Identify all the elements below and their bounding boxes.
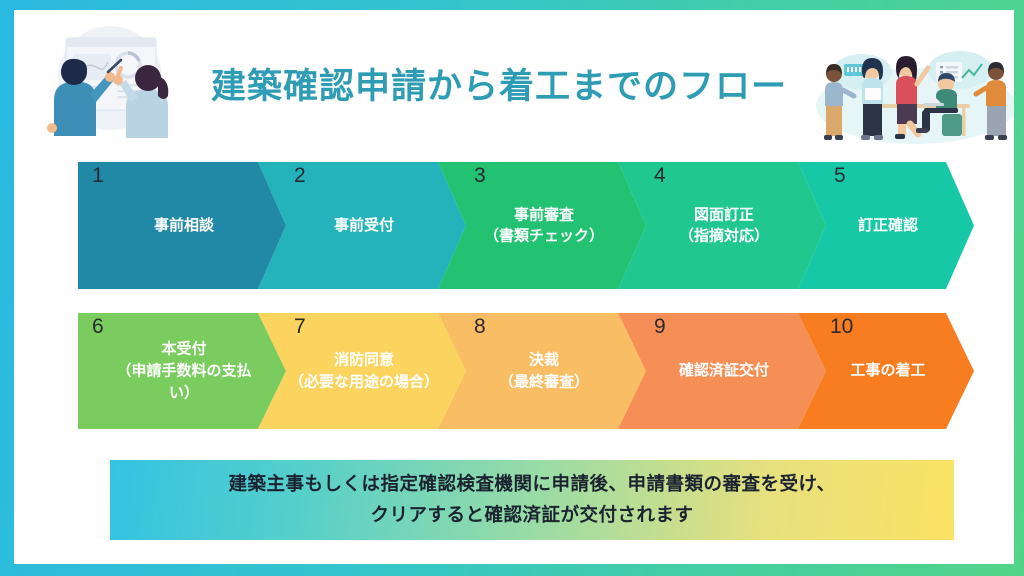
summary-banner-line-2: クリアすると確認済証が交付されます (370, 500, 693, 531)
flow-step-9[interactable]: 9 確認済証交付 (618, 313, 826, 429)
flow-step-label: 事前相談 (78, 215, 286, 237)
flow-step-number: 5 (834, 165, 846, 186)
flow-step-number: 3 (474, 165, 486, 186)
poster-canvas: 建築確認申請から着工までのフロー 1 事前相談 2 事前受付 3 事前審査 （書… (14, 10, 1014, 564)
flow-step-label: 決裁 （最終審査） (438, 349, 646, 393)
team-meeting-discussion-illustration (810, 38, 1014, 148)
flow-step-4[interactable]: 4 図面訂正 （指摘対応） (618, 162, 826, 289)
summary-banner: 建築主事もしくは指定確認検査機関に申請後、申請書類の審査を受け、 クリアすると確… (110, 460, 954, 540)
flow-step-label: 本受付 （申請手数料の支払い） (78, 338, 286, 403)
header: 建築確認申請から着工までのフロー (14, 10, 1014, 140)
flow-step-1[interactable]: 1 事前相談 (78, 162, 286, 289)
page-title: 建築確認申請から着工までのフロー (189, 58, 809, 109)
flow-step-number: 9 (654, 316, 666, 337)
summary-banner-line-1: 建築主事もしくは指定確認検査機関に申請後、申請書類の審査を受け、 (228, 469, 835, 500)
flow-step-number: 4 (654, 165, 666, 186)
poster-frame: 建築確認申請から着工までのフロー 1 事前相談 2 事前受付 3 事前審査 （書… (0, 0, 1024, 576)
flow-row-2: 6 本受付 （申請手数料の支払い） 7 消防同意 （必要な用途の場合） 8 決裁… (78, 313, 974, 429)
flow-row-1: 1 事前相談 2 事前受付 3 事前審査 （書類チェック） 4 図面訂正 （指摘… (78, 162, 974, 289)
flow-step-number: 10 (830, 316, 853, 337)
flow-step-number: 1 (92, 165, 104, 186)
flow-step-3[interactable]: 3 事前審査 （書類チェック） (438, 162, 646, 289)
flow-step-8[interactable]: 8 決裁 （最終審査） (438, 313, 646, 429)
flow-step-number: 8 (474, 316, 486, 337)
flow-step-label: 図面訂正 （指摘対応） (618, 204, 826, 248)
flow-step-label: 消防同意 （必要な用途の場合） (258, 349, 466, 393)
two-people-whiteboard-presentation-illustration (22, 18, 192, 140)
flow-step-label: 事前受付 (258, 215, 466, 237)
flow-step-number: 6 (92, 316, 104, 337)
flow-step-2[interactable]: 2 事前受付 (258, 162, 466, 289)
flow-step-label: 事前審査 （書類チェック） (438, 204, 646, 248)
flow-step-6[interactable]: 6 本受付 （申請手数料の支払い） (78, 313, 286, 429)
flow-step-7[interactable]: 7 消防同意 （必要な用途の場合） (258, 313, 466, 429)
flow-step-number: 2 (294, 165, 306, 186)
flow-step-label: 確認済証交付 (618, 360, 826, 382)
flow-step-number: 7 (294, 316, 306, 337)
